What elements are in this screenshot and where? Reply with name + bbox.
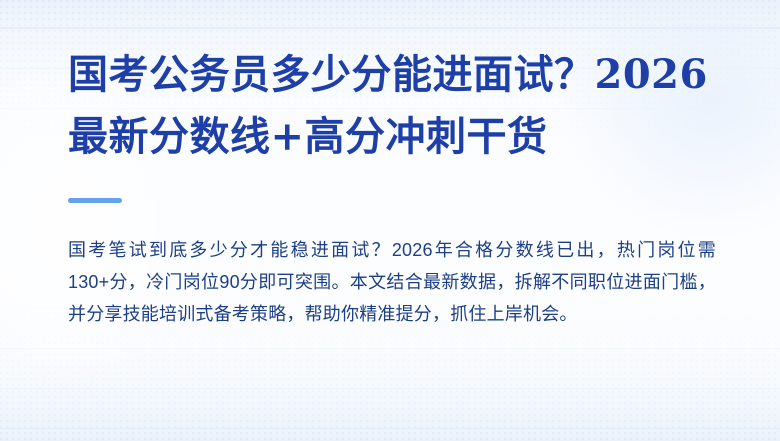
accent-divider xyxy=(68,198,122,203)
poster-canvas: 国考公务员多少分能进面试？2026最新分数线+高分冲刺干货 国考笔试到底多少分才… xyxy=(0,0,780,441)
summary-paragraph: 国考笔试到底多少分才能稳进面试？2026年合格分数线已出，热门岗位需130+分，… xyxy=(68,234,716,330)
poster-content: 国考公务员多少分能进面试？2026最新分数线+高分冲刺干货 国考笔试到底多少分才… xyxy=(68,0,728,441)
page-title: 国考公务员多少分能进面试？2026最新分数线+高分冲刺干货 xyxy=(68,44,730,168)
